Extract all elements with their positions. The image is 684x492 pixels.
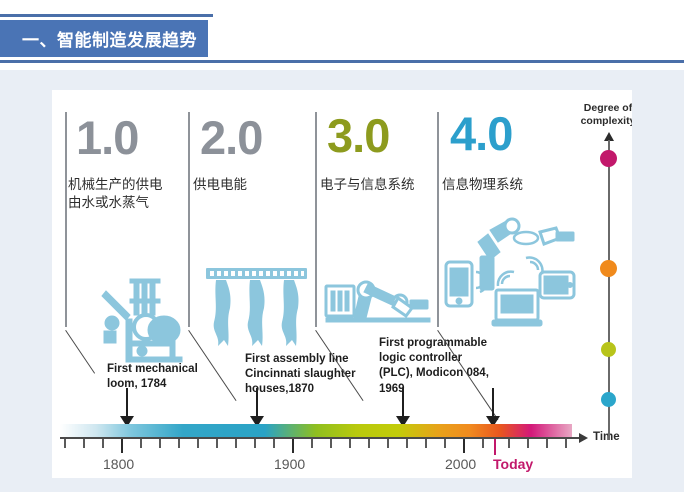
axis-tick — [311, 439, 313, 448]
era-divider-1 — [65, 112, 67, 327]
caption-1-line1: First mechanical — [107, 362, 227, 377]
axis-tick — [482, 439, 484, 448]
axis-tick — [387, 439, 389, 448]
caption-1: First mechanical loom, 1784 — [107, 362, 227, 392]
marker-stem-3 — [402, 388, 404, 418]
caption-1-line2: loom, 1784 — [107, 377, 227, 392]
axis-tick — [565, 439, 567, 448]
axis-tick — [178, 439, 180, 448]
axis-tick — [64, 439, 66, 448]
timeline-gradient-bar — [60, 424, 572, 437]
complexity-axis-label: Degree of complexity — [565, 102, 632, 127]
era-divider-4 — [437, 112, 439, 327]
industry-timeline-figure: 1.0 机械生产的供电 由水或水蒸气 — [52, 90, 632, 478]
axis-tick — [140, 439, 142, 448]
era-number-2: 2.0 — [200, 114, 262, 161]
section-title-box: 一、智能制造发展趋势 — [0, 20, 208, 57]
era-number-4: 4.0 — [450, 110, 512, 157]
axis-tick — [527, 439, 529, 448]
complexity-axis-label-line2: complexity — [565, 115, 632, 128]
axis-tick — [330, 439, 332, 448]
era-number-1: 1.0 — [76, 114, 138, 161]
time-axis-line — [60, 437, 580, 439]
page-title: 一、智能制造发展趋势 — [0, 26, 197, 51]
today-label: Today — [493, 456, 533, 472]
axis-tick — [425, 439, 427, 448]
axis-tick — [197, 439, 199, 448]
axis-tick — [273, 439, 275, 448]
era-label-1-line2: 由水或水蒸气 — [68, 194, 149, 212]
axis-tick-major — [463, 439, 465, 453]
iot-devices-icon — [444, 216, 576, 334]
robot-arm-icon — [324, 268, 434, 332]
axis-tick — [546, 439, 548, 448]
year-label-1900: 1900 — [274, 456, 305, 472]
stage-dot-3 — [600, 260, 617, 277]
caption-2-line1: First assembly line — [245, 352, 375, 367]
time-axis-label: Time — [593, 431, 620, 443]
axis-tick — [349, 439, 351, 448]
era-label-3-line1: 电子与信息系统 — [320, 176, 415, 194]
leader-line-1 — [65, 330, 95, 374]
axis-tick-major — [121, 439, 123, 453]
axis-tick — [235, 439, 237, 448]
mechanical-loom-icon — [100, 275, 192, 365]
marker-stem-4 — [492, 388, 494, 418]
axis-tick — [102, 439, 104, 448]
year-label-2000: 2000 — [445, 456, 476, 472]
axis-tick-major — [292, 439, 294, 453]
stage-dot-1 — [601, 392, 616, 407]
caption-2-line2: Cincinnati slaughter — [245, 367, 375, 382]
era-label-1-line1: 机械生产的供电 — [68, 176, 163, 194]
marker-stem-2 — [256, 388, 258, 418]
axis-tick — [444, 439, 446, 448]
stage-dot-2 — [601, 342, 616, 357]
axis-tick — [159, 439, 161, 448]
era-label-2-line1: 供电电能 — [193, 176, 247, 194]
assembly-line-icon — [204, 266, 309, 348]
slide-page: 一、智能制造发展趋势 1.0 机械生产的供电 由水或水蒸气 — [0, 0, 684, 492]
header-rule-bottom — [0, 60, 684, 63]
complexity-axis-label-line1: Degree of — [565, 102, 632, 115]
stage-dot-4 — [600, 150, 617, 167]
header-rule-top — [0, 14, 213, 17]
axis-tick — [216, 439, 218, 448]
axis-tick — [406, 439, 408, 448]
caption-3-line2: logic controller — [379, 351, 519, 366]
axis-tick — [254, 439, 256, 448]
marker-stem-1 — [126, 388, 128, 418]
time-axis-arrow-icon — [579, 433, 588, 443]
era-divider-3 — [315, 112, 317, 327]
era-number-3: 3.0 — [327, 112, 389, 159]
axis-tick — [508, 439, 510, 448]
era-label-4-line1: 信息物理系统 — [442, 176, 523, 194]
caption-3-line3: (PLC), Modicon 084, — [379, 366, 519, 381]
axis-tick-today — [494, 439, 496, 455]
caption-3-line4: 1969 — [379, 382, 519, 397]
caption-3: First programmable logic controller (PLC… — [379, 336, 519, 397]
axis-tick — [83, 439, 85, 448]
axis-tick — [368, 439, 370, 448]
year-label-1800: 1800 — [103, 456, 134, 472]
